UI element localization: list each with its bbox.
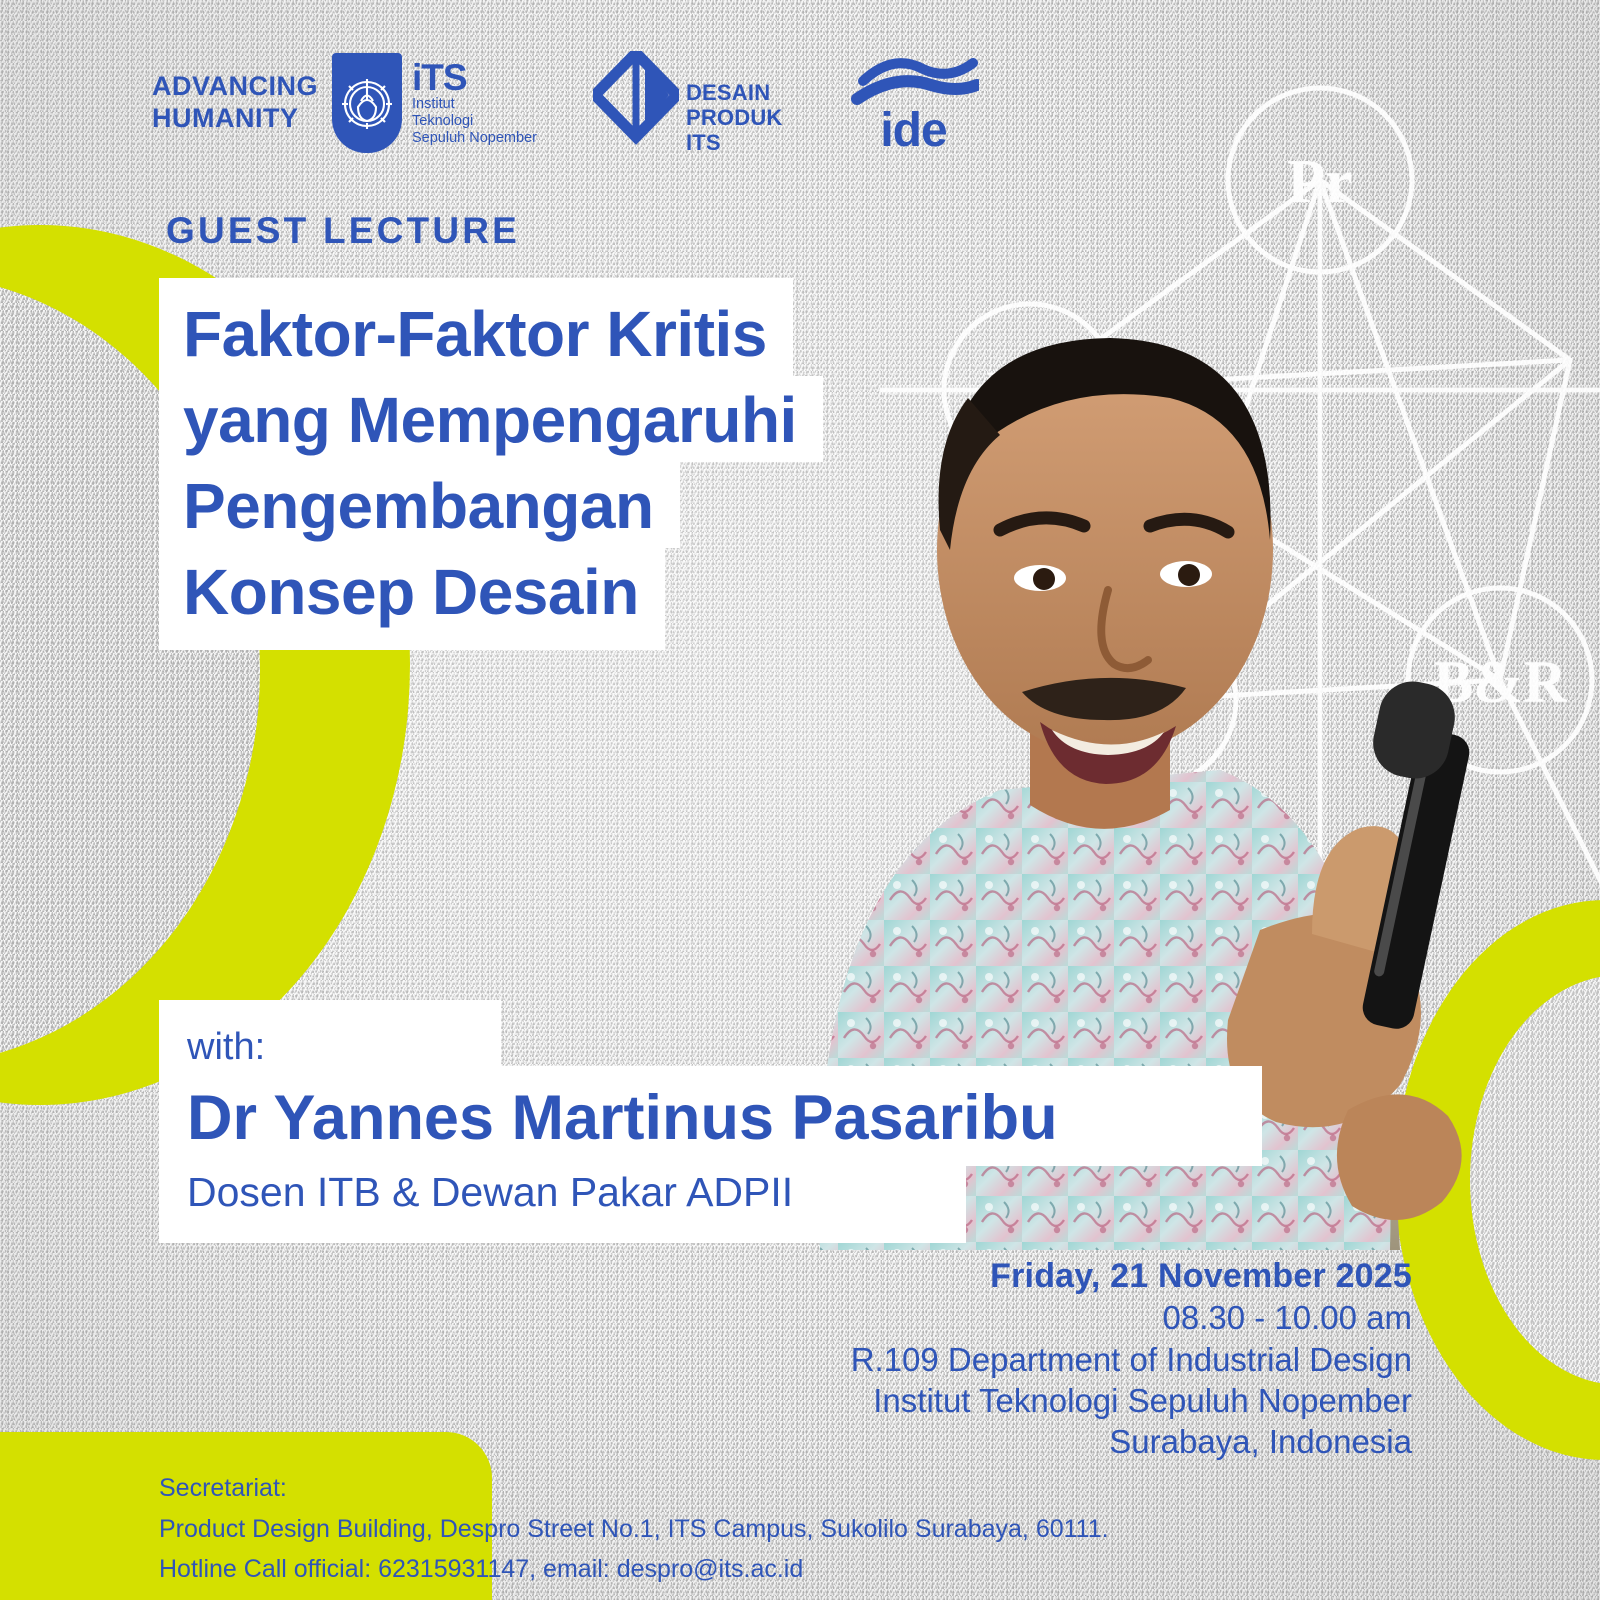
speaker-affiliation: Dosen ITB & Dewan Pakar ADPII bbox=[159, 1160, 966, 1243]
its-logo: iTS Institut Teknologi Sepuluh Nopember bbox=[332, 53, 537, 153]
secretariat-footer: Secretariat: Product Design Building, De… bbox=[159, 1468, 1109, 1590]
title-line-2: yang Mempengaruhi bbox=[159, 376, 823, 462]
guest-lecture-eyebrow: GUEST LECTURE bbox=[166, 210, 520, 252]
tagline-line-1: ADVANCING bbox=[152, 71, 318, 103]
event-details: Friday, 21 November 2025 08.30 - 10.00 a… bbox=[512, 1256, 1412, 1462]
poster-canvas: Pr Pm Ef B&R bbox=[0, 0, 1600, 1600]
event-institution: Institut Teknologi Sepuluh Nopember bbox=[512, 1380, 1412, 1421]
despro-logo: DESAIN PRODUK ITS bbox=[593, 51, 783, 155]
diagram-node-pr: Pr bbox=[1287, 148, 1352, 216]
footer-line-2: Product Design Building, Despro Street N… bbox=[159, 1509, 1109, 1550]
page-title: Faktor-Faktor Kritis yang Mempengaruhi P… bbox=[159, 278, 823, 650]
its-acronym: iTS bbox=[412, 57, 467, 98]
title-line-1: Faktor-Faktor Kritis bbox=[159, 278, 793, 376]
event-time: 08.30 - 10.00 am bbox=[512, 1297, 1412, 1338]
despro-line-3: ITS bbox=[686, 130, 783, 155]
despro-wordmark: DESAIN PRODUK ITS bbox=[686, 80, 783, 155]
its-sub-1: Institut bbox=[412, 96, 537, 113]
its-gear-shield-icon bbox=[332, 53, 402, 153]
title-line-4: Konsep Desain bbox=[159, 548, 665, 650]
logo-row: ADVANCING HUMANITY bbox=[152, 48, 979, 158]
event-city: Surabaya, Indonesia bbox=[512, 1421, 1412, 1462]
tagline-line-2: HUMANITY bbox=[152, 103, 318, 135]
event-date: Friday, 21 November 2025 bbox=[512, 1256, 1412, 1297]
footer-line-3: Hotline Call official: 62315931147, emai… bbox=[159, 1549, 1109, 1590]
despro-diamond-icon bbox=[593, 51, 679, 155]
title-line-3: Pengembangan bbox=[159, 462, 680, 548]
its-gear-icon bbox=[337, 73, 397, 133]
its-wordmark: iTS Institut Teknologi Sepuluh Nopember bbox=[412, 59, 537, 147]
ide-logo: ide bbox=[849, 55, 979, 152]
despro-line-2: PRODUK bbox=[686, 105, 783, 130]
its-sub-2: Teknologi bbox=[412, 113, 537, 130]
event-room: R.109 Department of Industrial Design bbox=[512, 1339, 1412, 1380]
footer-line-1: Secretariat: bbox=[159, 1468, 1109, 1509]
its-sub-3: Sepuluh Nopember bbox=[412, 130, 537, 147]
advancing-humanity-tagline: ADVANCING HUMANITY bbox=[152, 71, 318, 135]
ide-wordmark: ide bbox=[880, 111, 946, 152]
speaker-name: Dr Yannes Martinus Pasaribu bbox=[159, 1066, 1262, 1166]
despro-line-1: DESAIN bbox=[686, 80, 783, 105]
